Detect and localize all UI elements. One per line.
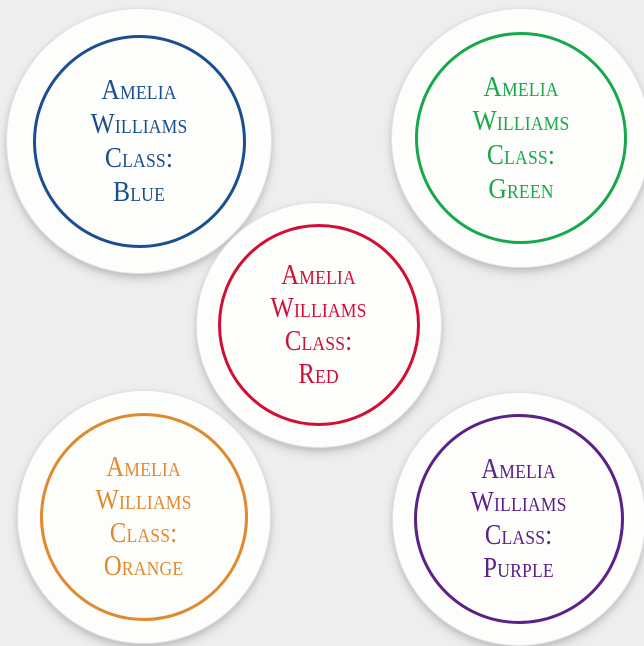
sticker-orange-name-line1: Amelia	[96, 451, 192, 484]
sticker-red-name-line1: Amelia	[271, 259, 367, 292]
sticker-red-class-value: Red	[271, 358, 367, 391]
sticker-orange-class-label: Class:	[96, 517, 192, 550]
sticker-orange-name-line2: Williams	[96, 484, 192, 517]
sticker-green-class-value: Green	[473, 172, 570, 206]
sticker-red[interactable]: Amelia Williams Class: Red	[196, 202, 442, 448]
sticker-blue-text: Amelia Williams Class: Blue	[91, 73, 188, 210]
sticker-orange-ring: Amelia Williams Class: Orange	[40, 413, 248, 621]
sticker-red-name-line2: Williams	[271, 292, 367, 325]
sticker-green-name-line2: Williams	[473, 104, 570, 138]
sticker-red-ring: Amelia Williams Class: Red	[218, 224, 420, 426]
sticker-green-ring: Amelia Williams Class: Green	[415, 32, 627, 244]
sticker-blue-name-line1: Amelia	[91, 73, 188, 107]
sticker-green-name-line1: Amelia	[473, 70, 570, 104]
sticker-purple-class-label: Class:	[471, 519, 567, 552]
sticker-purple-class-value: Purple	[471, 552, 567, 585]
sticker-orange[interactable]: Amelia Williams Class: Orange	[17, 390, 271, 644]
sticker-purple-ring: Amelia Williams Class: Purple	[414, 414, 624, 624]
sticker-green[interactable]: Amelia Williams Class: Green	[391, 8, 644, 268]
sticker-blue-name-line2: Williams	[91, 107, 188, 141]
sticker-blue-class-label: Class:	[91, 141, 188, 175]
sticker-purple-text: Amelia Williams Class: Purple	[471, 453, 567, 585]
sticker-red-class-label: Class:	[271, 325, 367, 358]
sticker-orange-class-value: Orange	[96, 550, 192, 583]
sticker-purple[interactable]: Amelia Williams Class: Purple	[392, 392, 644, 646]
sticker-green-text: Amelia Williams Class: Green	[473, 70, 570, 207]
sticker-blue-ring: Amelia Williams Class: Blue	[33, 35, 246, 248]
sticker-orange-text: Amelia Williams Class: Orange	[96, 451, 192, 583]
sticker-purple-name-line2: Williams	[471, 486, 567, 519]
sticker-sheet: Amelia Williams Class: Blue Amelia Willi…	[0, 0, 644, 644]
sticker-green-class-label: Class:	[473, 138, 570, 172]
sticker-red-text: Amelia Williams Class: Red	[271, 259, 367, 391]
sticker-blue[interactable]: Amelia Williams Class: Blue	[6, 8, 272, 274]
sticker-purple-name-line1: Amelia	[471, 453, 567, 486]
sticker-blue-class-value: Blue	[91, 175, 188, 209]
